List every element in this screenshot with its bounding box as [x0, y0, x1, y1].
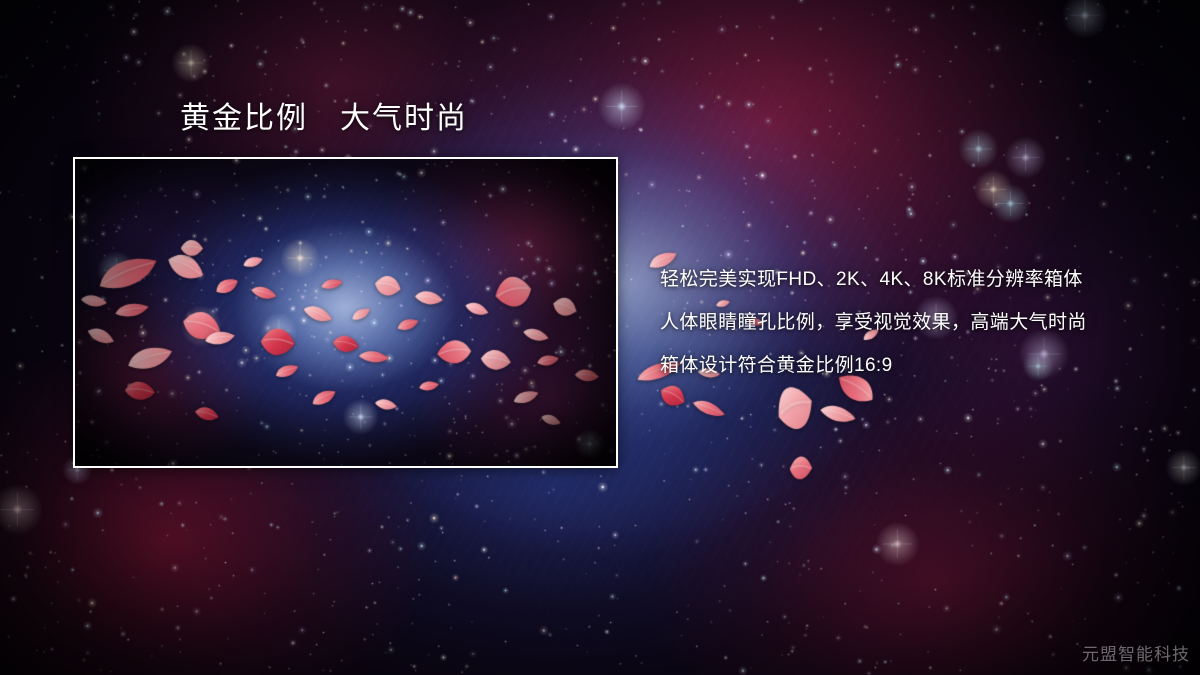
page-title: 黄金比例 大气时尚: [180, 100, 468, 138]
framed-image-panel: [73, 157, 618, 468]
body-copy-block: 轻松完美实现FHD、2K、4K、8K标准分辨率箱体 人体眼睛瞳孔比例，享受视觉效…: [660, 258, 1160, 387]
brand-watermark: 元盟智能科技: [1082, 640, 1190, 665]
panel-image: [75, 159, 616, 466]
body-line-2: 人体眼睛瞳孔比例，享受视觉效果，高端大气时尚: [660, 301, 1160, 344]
body-line-1: 轻松完美实现FHD、2K、4K、8K标准分辨率箱体: [660, 258, 1160, 301]
presentation-slide: 黄金比例 大气时尚 轻松完美实现FHD、2K、4K、8K标准分辨率箱体 人体眼睛…: [0, 0, 1200, 675]
body-line-3: 箱体设计符合黄金比例16:9: [660, 344, 1160, 387]
panel-vignette: [75, 159, 616, 466]
